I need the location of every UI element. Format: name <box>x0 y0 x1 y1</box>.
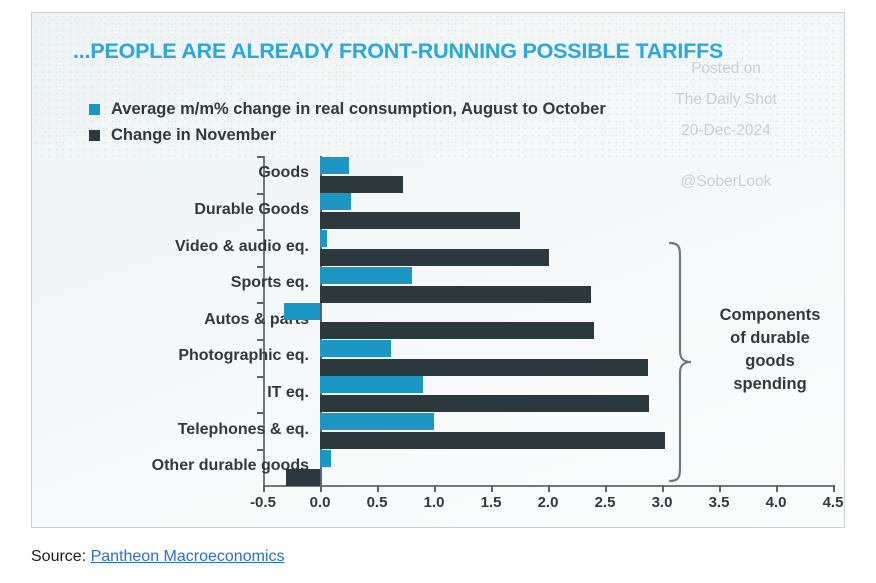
y-axis-tick <box>257 339 264 341</box>
category-label: Photographic eq. <box>32 347 309 365</box>
x-axis-tick-label: 3.5 <box>696 494 742 511</box>
source-prefix: Source: <box>31 548 91 565</box>
bar-november-change <box>320 176 403 193</box>
x-axis-tick <box>377 485 379 492</box>
category-label: Telephones & eq. <box>32 421 309 439</box>
category-label: Autos & parts <box>32 311 309 329</box>
bar-november-change <box>320 359 648 376</box>
y-axis-tick <box>257 193 264 195</box>
y-axis-tick <box>257 449 264 451</box>
annotation-line-4: spending <box>733 375 806 393</box>
durable-goods-bracket <box>666 241 694 483</box>
bar-average-change <box>320 267 412 284</box>
category-label: Goods <box>32 164 309 182</box>
x-axis-tick-label: 4.0 <box>753 494 799 511</box>
x-axis-tick-label: 3.0 <box>639 494 685 511</box>
category-label: Sports eq. <box>32 274 309 292</box>
x-axis-tick-label: 0.5 <box>354 494 400 511</box>
x-axis-tick <box>662 485 664 492</box>
category-label: Other durable goods <box>32 457 309 475</box>
x-axis-tick-label: 1.5 <box>468 494 514 511</box>
annotation-line-1: Components <box>720 306 821 324</box>
annotation-line-3: goods <box>745 352 795 370</box>
bar-average-change <box>320 413 434 430</box>
bar-november-change <box>286 469 320 486</box>
annotation-line-2: of durable <box>730 329 810 347</box>
bar-average-change <box>320 340 391 357</box>
x-axis-tick <box>776 485 778 492</box>
plot-area: Components of durable goods spending -0.… <box>32 13 845 528</box>
x-axis-tick-label: 0.0 <box>297 494 343 511</box>
x-axis-tick-label: 2.0 <box>525 494 571 511</box>
category-label: Video & audio eq. <box>32 238 309 256</box>
y-axis-tick <box>257 156 264 158</box>
x-axis-tick <box>833 485 835 492</box>
bar-average-change <box>320 450 331 467</box>
x-axis-tick <box>263 485 265 492</box>
x-axis-tick <box>320 485 322 492</box>
screenshot-root: ...PEOPLE ARE ALREADY FRONT-RUNNING POSS… <box>0 0 876 583</box>
x-axis-tick <box>434 485 436 492</box>
x-axis-tick-label: -0.5 <box>240 494 286 511</box>
bar-november-change <box>320 395 649 412</box>
x-axis-tick-label: 1.0 <box>411 494 457 511</box>
bar-average-change <box>320 230 327 247</box>
bar-average-change <box>320 193 351 210</box>
y-axis-tick <box>257 229 264 231</box>
x-axis-tick <box>605 485 607 492</box>
chart-card: ...PEOPLE ARE ALREADY FRONT-RUNNING POSS… <box>31 12 845 528</box>
category-label: IT eq. <box>32 384 309 402</box>
durable-goods-annotation: Components of durable goods spending <box>704 304 836 396</box>
bar-average-change <box>320 157 349 174</box>
bar-november-change <box>320 322 594 339</box>
bar-november-change <box>320 249 549 266</box>
source-line: Source: Pantheon Macroeconomics <box>31 548 284 566</box>
y-axis-tick <box>257 376 264 378</box>
x-axis-tick-label: 4.5 <box>810 494 845 511</box>
x-axis-tick <box>719 485 721 492</box>
bar-average-change <box>320 376 423 393</box>
bar-november-change <box>320 212 520 229</box>
x-axis-tick-label: 2.5 <box>582 494 628 511</box>
y-axis-tick <box>257 412 264 414</box>
source-link[interactable]: Pantheon Macroeconomics <box>91 548 285 565</box>
bar-november-change <box>320 286 591 303</box>
y-axis-tick <box>257 302 264 304</box>
x-axis-tick <box>548 485 550 492</box>
x-axis-tick <box>491 485 493 492</box>
bar-november-change <box>320 432 665 449</box>
bar-average-change <box>284 303 320 320</box>
y-axis-tick <box>257 266 264 268</box>
category-label: Durable Goods <box>32 201 309 219</box>
